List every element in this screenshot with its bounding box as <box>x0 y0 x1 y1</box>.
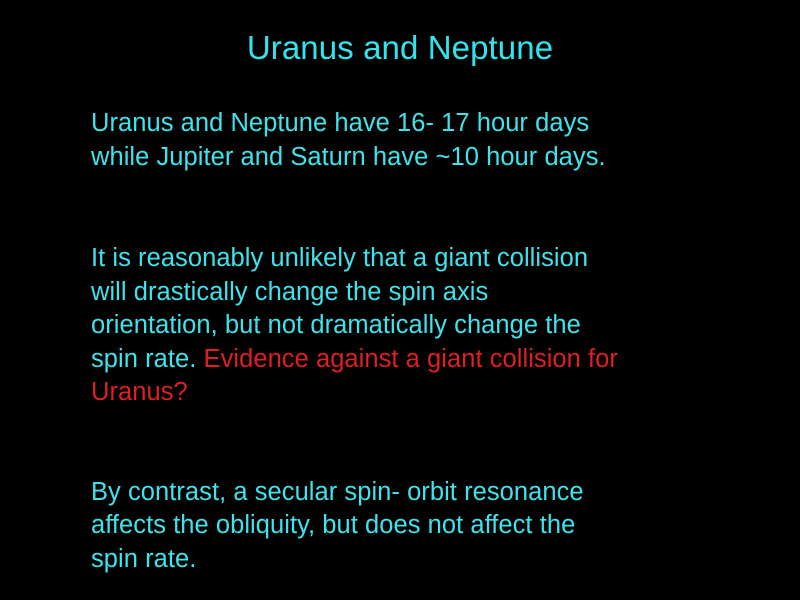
paragraph-line: will drastically change the spin axis <box>91 276 716 310</box>
paragraph-rotation-periods: Uranus and Neptune have 16- 17 hour days… <box>91 107 716 174</box>
paragraph-line: affects the obliquity, but does not affe… <box>91 509 716 543</box>
paragraph-giant-collision: It is reasonably unlikely that a giant c… <box>91 242 716 410</box>
slide-body: Uranus and Neptune have 16- 17 hour days… <box>91 107 731 576</box>
highlight-text-red: Uranus? <box>91 376 716 410</box>
presentation-slide: Uranus and Neptune Uranus and Neptune ha… <box>0 0 800 600</box>
paragraph-line: orientation, but not dramatically change… <box>91 309 716 343</box>
paragraph-line: It is reasonably unlikely that a giant c… <box>91 242 716 276</box>
paragraph-line: spin rate. <box>91 543 716 577</box>
paragraph-spacer <box>91 174 731 242</box>
paragraph-line: By contrast, a secular spin- orbit reson… <box>91 476 716 510</box>
paragraph-line-mixed: spin rate. Evidence against a giant coll… <box>91 343 716 377</box>
slide-title: Uranus and Neptune <box>0 29 800 67</box>
paragraph-text-cyan: spin rate. <box>91 345 204 373</box>
paragraph-spacer <box>91 410 731 476</box>
paragraph-line: while Jupiter and Saturn have ~10 hour d… <box>91 141 716 175</box>
paragraph-secular-resonance: By contrast, a secular spin- orbit reson… <box>91 476 716 577</box>
highlight-text-red: Evidence against a giant collision for <box>204 345 618 373</box>
paragraph-line: Uranus and Neptune have 16- 17 hour days <box>91 107 716 141</box>
